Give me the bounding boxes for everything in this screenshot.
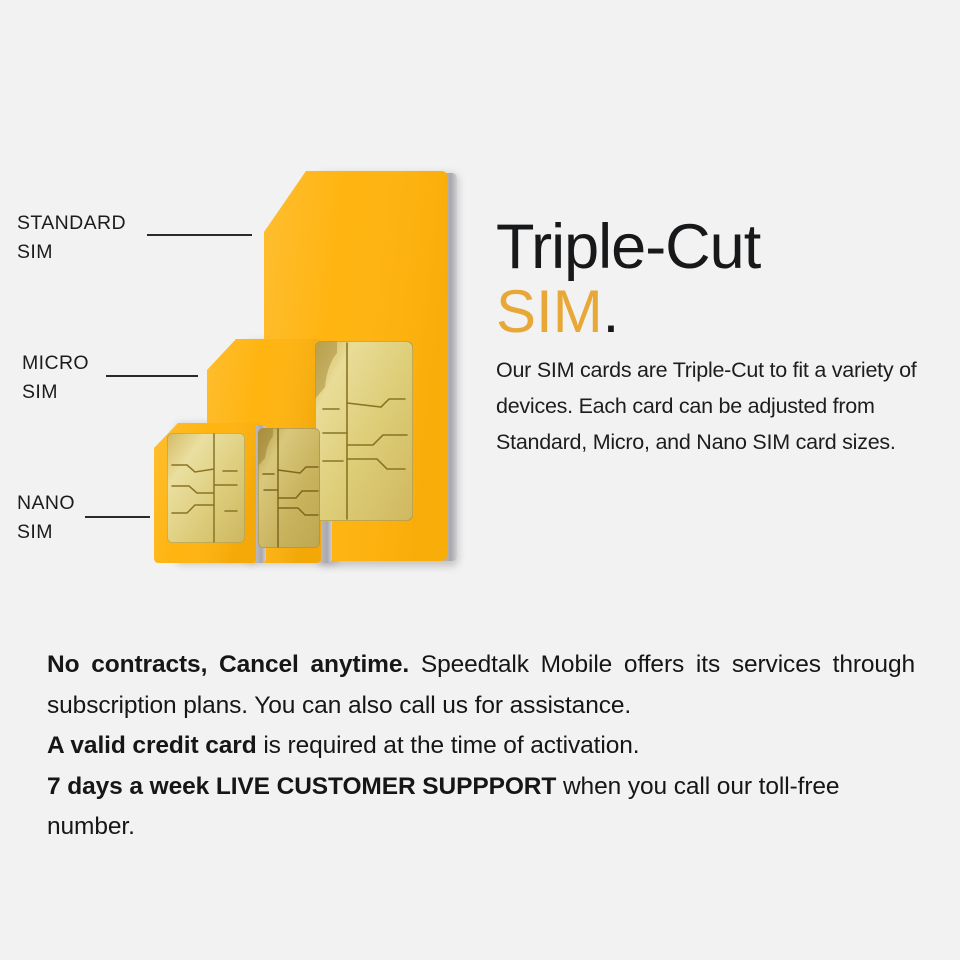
callout-nano-line2: SIM (17, 518, 75, 547)
sim-size-diagram: STANDARD SIM MICRO SIM NANO SIM (0, 160, 490, 585)
policy-paragraph-credit-card: A valid credit card is required at the t… (47, 726, 915, 767)
callout-standard-line2: SIM (17, 238, 126, 267)
callout-standard-line1: STANDARD (17, 212, 126, 234)
hero-headline-primary: Triple-Cut (496, 214, 956, 280)
hero-headline-secondary-word: SIM (496, 278, 603, 345)
leader-line-standard (147, 234, 252, 236)
callout-nano-line1: NANO (17, 492, 75, 514)
leader-line-nano (85, 516, 150, 518)
policy-2-bold: A valid credit card (47, 732, 257, 759)
callout-standard-sim: STANDARD SIM (17, 209, 126, 267)
standard-sim-chip (315, 341, 413, 521)
policy-3-bold: 7 days a week LIVE CUSTOMER SUPPPORT (47, 773, 556, 800)
callout-nano-sim: NANO SIM (17, 489, 75, 547)
hero-headline-secondary: SIM. (496, 280, 956, 344)
policy-paragraph-support: 7 days a week LIVE CUSTOMER SUPPPORT whe… (47, 767, 915, 848)
nano-sim-chip (167, 433, 245, 543)
policy-1-bold: No contracts, Cancel anytime. (47, 651, 409, 678)
bottom-copy-block: No contracts, Cancel anytime. Speedtalk … (47, 645, 915, 848)
policy-2-rest: is required at the time of activation. (257, 732, 640, 759)
callout-micro-line1: MICRO (22, 352, 89, 374)
hero-description: Our SIM cards are Triple-Cut to fit a va… (496, 352, 956, 460)
hero-headline-period: . (603, 278, 620, 345)
micro-sim-chip (258, 428, 320, 548)
leader-line-micro (106, 375, 198, 377)
hero-section: STANDARD SIM MICRO SIM NANO SIM Triple-C… (0, 0, 960, 612)
hero-copy-block: Triple-Cut SIM. Our SIM cards are Triple… (496, 214, 956, 460)
policy-paragraph-no-contracts: No contracts, Cancel anytime. Speedtalk … (47, 645, 915, 726)
callout-micro-line2: SIM (22, 378, 89, 407)
callout-micro-sim: MICRO SIM (22, 349, 89, 407)
